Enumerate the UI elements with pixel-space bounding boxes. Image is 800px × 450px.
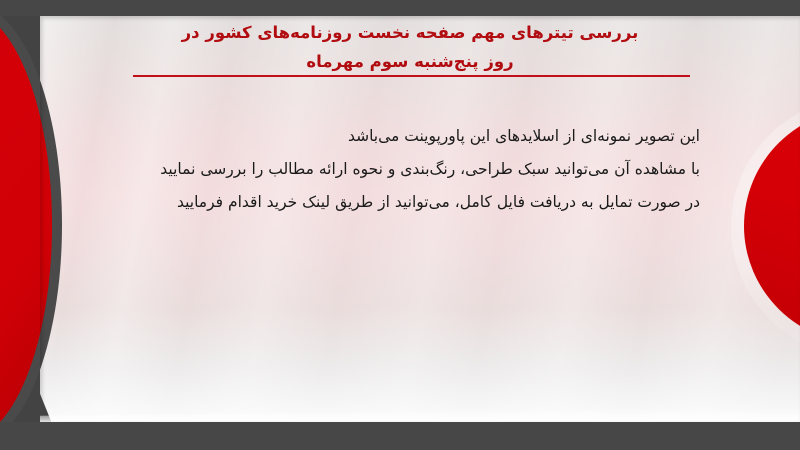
- body-line-1: این تصویر نمونه‌ای از اسلایدهای این پاور…: [80, 120, 700, 153]
- slide-frame-top: [0, 0, 800, 16]
- slide-title-line-1: بررسی تیترهای مهم صفحه نخست روزنامه‌های …: [120, 18, 700, 47]
- slide-title: بررسی تیترهای مهم صفحه نخست روزنامه‌های …: [120, 18, 700, 76]
- slide-frame-bottom: [0, 422, 800, 450]
- slide-body-text: این تصویر نمونه‌ای از اسلایدهای این پاور…: [80, 120, 700, 219]
- body-line-3: در صورت تمایل به دریافت فایل کامل، می‌تو…: [80, 186, 700, 219]
- body-line-2: با مشاهده آن می‌توانید سبک طراحی، رنگ‌بن…: [80, 153, 700, 186]
- title-underline-rule: [133, 75, 690, 77]
- presentation-slide: بررسی تیترهای مهم صفحه نخست روزنامه‌های …: [0, 0, 800, 450]
- slide-title-line-2: روز پنج‌شنبه سوم مهرماه: [120, 47, 700, 76]
